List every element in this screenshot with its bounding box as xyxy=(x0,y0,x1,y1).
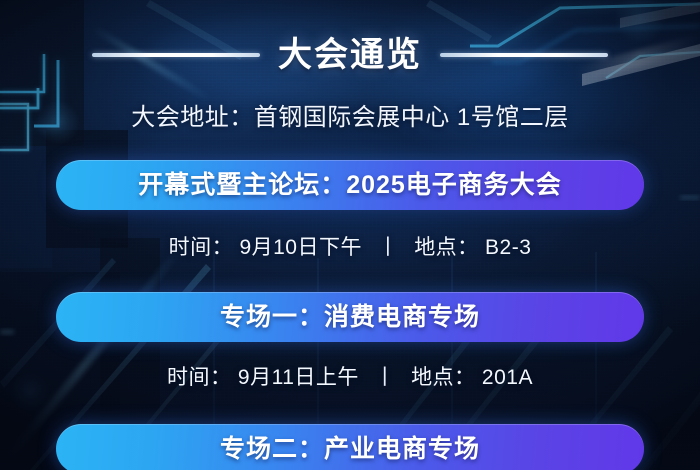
session-place-label: 地点： xyxy=(411,366,476,389)
title-rule-left xyxy=(92,53,260,57)
session-place-value: 201A xyxy=(482,366,533,389)
poster-content: 大会通览 大会地址：首钢国际会展中心 1号馆二层 开幕式暨主论坛：2025电子商… xyxy=(0,0,700,470)
session-place-label: 地点： xyxy=(414,236,479,259)
session-meta-opening-forum: 时间： 9月10日下午 丨 地点： B2-3 xyxy=(0,234,700,262)
meta-separator: 丨 xyxy=(365,364,405,392)
session-time-value: 9月10日下午 xyxy=(239,236,362,259)
venue-address: 大会地址：首钢国际会展中心 1号馆二层 xyxy=(0,102,700,134)
meta-separator: 丨 xyxy=(368,234,408,262)
conference-overview-poster: 大会通览 大会地址：首钢国际会展中心 1号馆二层 开幕式暨主论坛：2025电子商… xyxy=(0,0,700,470)
title-row: 大会通览 xyxy=(0,32,700,78)
session-time-label: 时间： xyxy=(169,236,234,259)
session-pill-industrial-ecommerce[interactable]: 专场二：产业电商专场 xyxy=(56,424,644,470)
session-pill-label: 开幕式暨主论坛：2025电子商务大会 xyxy=(138,170,562,200)
session-time-label: 时间： xyxy=(167,366,232,389)
session-pill-opening-forum[interactable]: 开幕式暨主论坛：2025电子商务大会 xyxy=(56,160,644,210)
session-time-value: 9月11日上午 xyxy=(238,366,359,389)
session-place-value: B2-3 xyxy=(485,236,531,259)
session-pill-consumer-ecommerce[interactable]: 专场一：消费电商专场 xyxy=(56,292,644,342)
session-pill-label: 专场二：产业电商专场 xyxy=(220,434,480,464)
session-meta-consumer-ecommerce: 时间： 9月11日上午 丨 地点： 201A xyxy=(0,364,700,392)
title-rule-right xyxy=(440,53,608,57)
session-pill-label: 专场一：消费电商专场 xyxy=(220,302,480,332)
page-title: 大会通览 xyxy=(278,35,422,75)
